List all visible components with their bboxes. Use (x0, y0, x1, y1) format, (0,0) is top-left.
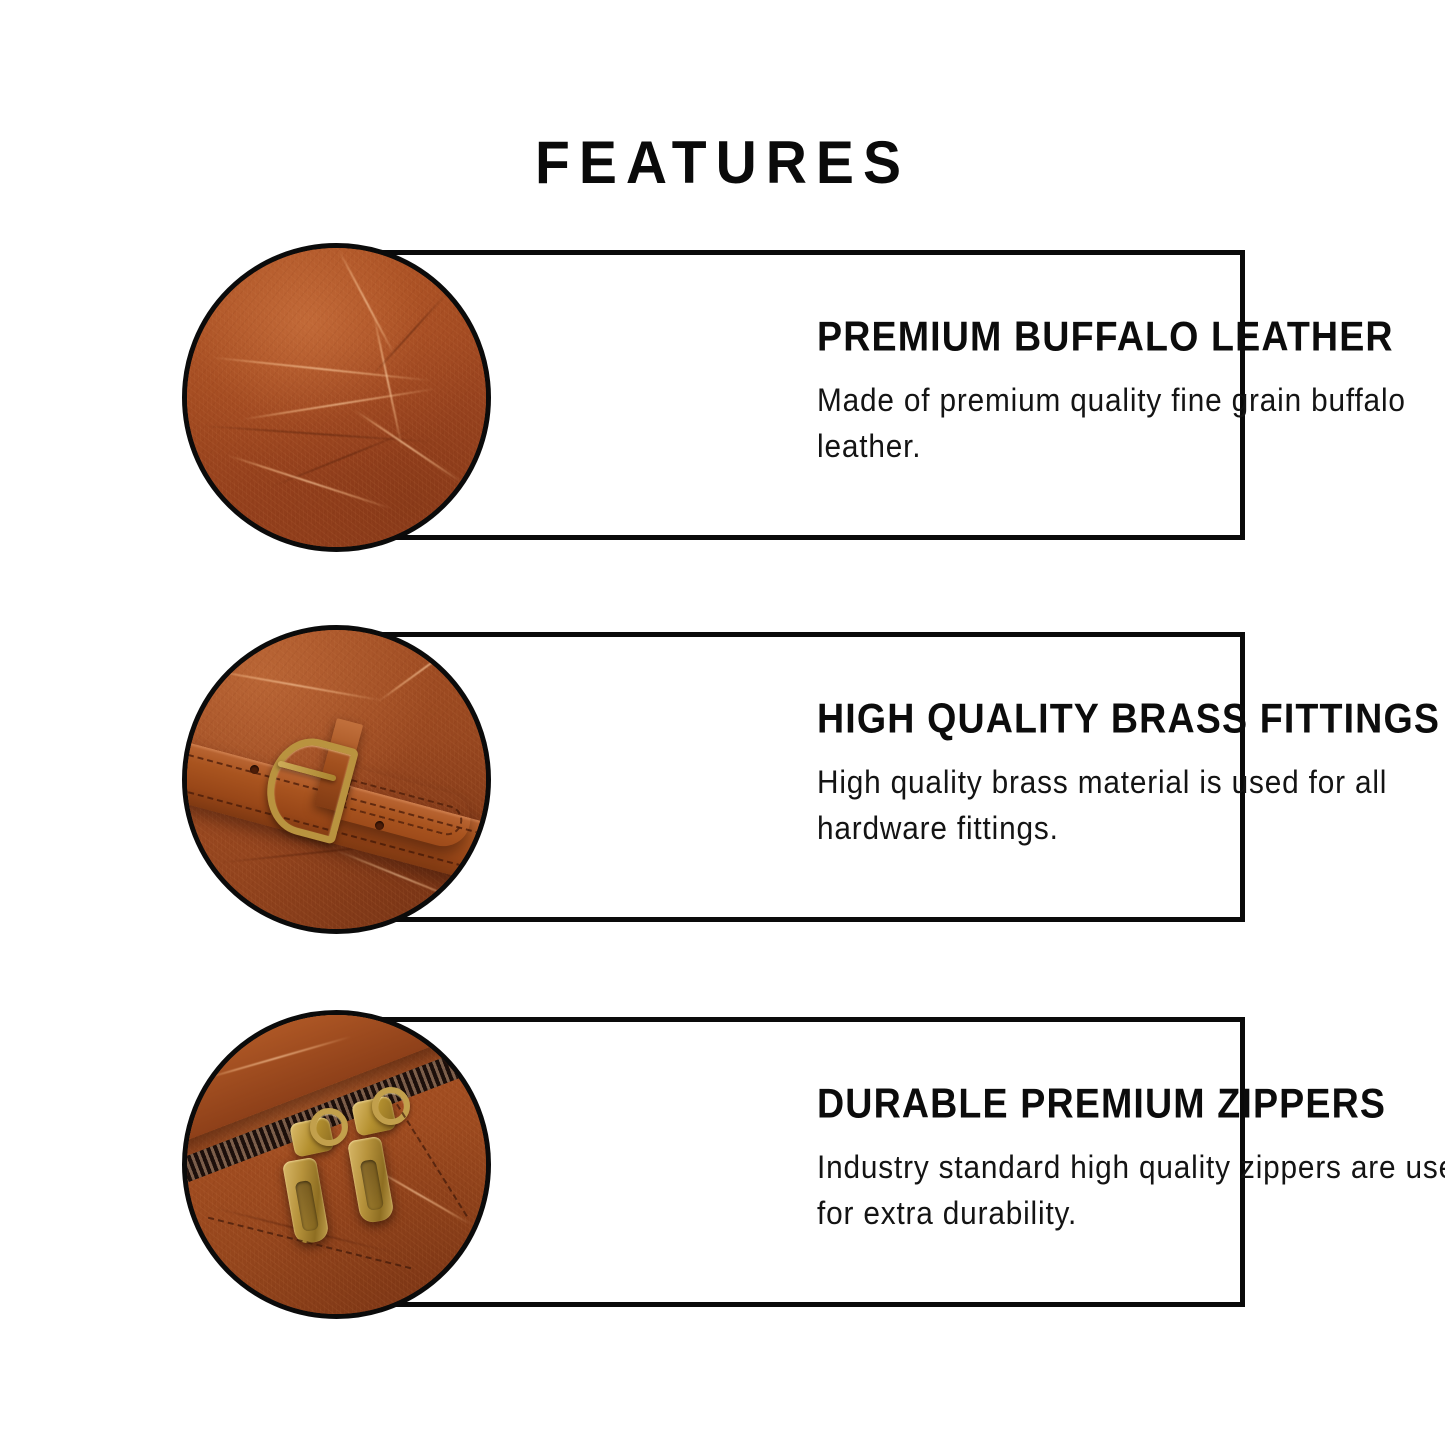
strap-punch-hole (250, 765, 259, 774)
leather-texture-image (187, 248, 486, 547)
features-infographic: FEATURES PREMIUM BUFFALO LEATHER Made of… (0, 0, 1445, 1445)
feature-heading: HIGH QUALITY BRASS FITTINGS (817, 696, 1445, 742)
feature-row-durable-premium-zippers: DURABLE PREMIUM ZIPPERS Industry standar… (0, 995, 1445, 1325)
feature-heading: PREMIUM BUFFALO LEATHER (817, 314, 1445, 360)
feature-text-block: DURABLE PREMIUM ZIPPERS Industry standar… (817, 1082, 1445, 1236)
feature-row-premium-buffalo-leather: PREMIUM BUFFALO LEATHER Made of premium … (0, 228, 1445, 558)
zipper-image (187, 1015, 486, 1314)
feature-description: Made of premium quality fine grain buffa… (817, 377, 1445, 469)
premium-zipper-pulls-photo (182, 1010, 491, 1319)
feature-description: High quality brass material is used for … (817, 759, 1445, 851)
feature-text-block: PREMIUM BUFFALO LEATHER Made of premium … (817, 315, 1445, 469)
feature-description: Industry standard high quality zippers a… (817, 1144, 1445, 1236)
buckle-image (187, 630, 486, 929)
leather-grain-layer (187, 248, 486, 547)
brass-buckle-fitting-photo (182, 625, 491, 934)
feature-heading: DURABLE PREMIUM ZIPPERS (817, 1081, 1445, 1127)
zipper-pull-ring (310, 1108, 348, 1146)
page-title: FEATURES (0, 130, 1445, 196)
feature-text-block: HIGH QUALITY BRASS FITTINGS High quality… (817, 697, 1445, 851)
feature-row-high-quality-brass-fittings: HIGH QUALITY BRASS FITTINGS High quality… (0, 610, 1445, 940)
premium-buffalo-leather-photo (182, 243, 491, 552)
